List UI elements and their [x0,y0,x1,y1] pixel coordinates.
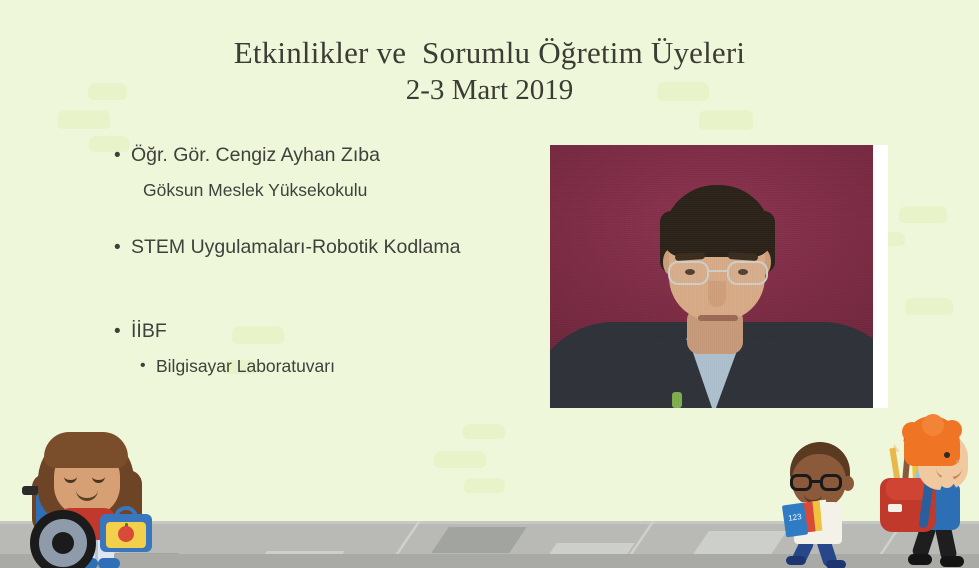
boy2-hair-curl [922,414,944,436]
eyeglasses-icon [790,474,842,491]
boy-with-backpack-illustration [878,416,974,568]
bullet-marker: • [114,236,121,259]
title-line-2: 2-3 Mart 2019 [0,72,979,108]
brick-shape [464,478,505,493]
boy1-lens-right [820,474,842,491]
title-line-1: Etkinlikler ve Sorumlu Öğretim Üyeleri [0,34,979,72]
boy2-hand [940,474,954,488]
girl-in-wheelchair-illustration [14,418,154,568]
bullet-label-presenter: Öğr. Gör. Cengiz Ayhan Zıba [131,144,380,166]
floor-tile [431,527,527,553]
bullet-item-topic: • STEM Uygulamaları-Robotik Kodlama [112,236,532,259]
bullet-sub-institution: Göksun Meslek Yüksekokulu [112,179,532,201]
photo-grain [550,145,873,408]
bullet-marker: • [114,320,121,343]
portrait-photo [550,145,873,408]
presentation-slide: Etkinlikler ve Sorumlu Öğretim Üyeleri 2… [0,0,979,568]
apple-icon [118,526,134,542]
slide-title: Etkinlikler ve Sorumlu Öğretim Üyeleri 2… [0,34,979,108]
portrait-photo-frame [550,145,888,408]
bullet-label-faculty: İİBF [131,320,167,342]
boy2-freckle [956,460,959,463]
wheelchair-hub [52,532,74,554]
brick-shape [434,451,486,468]
boy1-lens-left [790,474,812,491]
bullet-label-topic: STEM Uygulamaları-Robotik Kodlama [131,236,460,258]
girl-shoe-right [98,558,120,568]
bullet-marker: • [140,355,146,377]
bullet-marker: • [114,144,121,167]
boy-with-glasses-illustration: 123 [780,440,860,568]
boy2-shoe-left [908,554,932,565]
bullet-item-lab: • Bilgisayar Laboratuvarı [112,355,532,377]
boy1-shoe-left [786,556,806,565]
bullet-label-lab: Bilgisayar Laboratuvarı [156,356,335,376]
book-label: 123 [786,511,804,525]
brick-shape [463,424,505,439]
boy1-shoe-right [826,560,846,568]
backpack-tag [888,504,902,512]
boy1-glasses-bridge [812,480,820,483]
bullet-list: • Öğr. Gör. Cengiz Ayhan Zıba Göksun Mes… [112,144,532,377]
brick-shape [58,110,110,129]
brick-shape [905,298,953,315]
brick-shape [899,206,947,223]
bullet-item-presenter: • Öğr. Gör. Cengiz Ayhan Zıba [112,144,532,167]
brick-shape [699,110,753,130]
boy2-shoe-right [940,556,964,567]
boy2-eye [944,452,950,458]
bullet-item-faculty: • İİBF [112,320,532,343]
girl-fringe [44,432,128,468]
